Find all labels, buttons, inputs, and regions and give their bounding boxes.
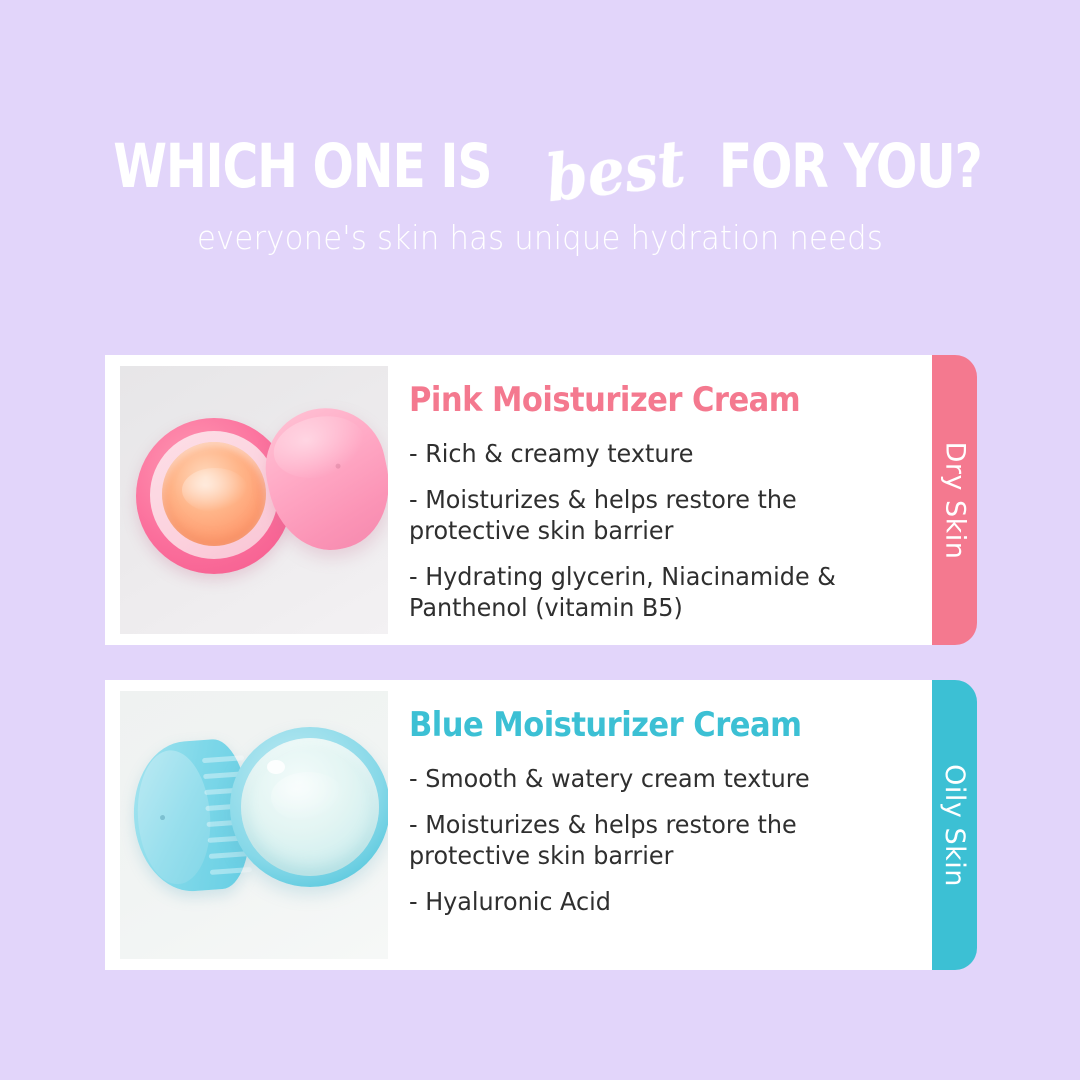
product-card-pink[interactable]: Pink Moisturizer Cream - Rich & creamy t… (105, 355, 932, 645)
product-details-blue: Blue Moisturizer Cream - Smooth & watery… (388, 680, 932, 917)
product-card-blue[interactable]: Blue Moisturizer Cream - Smooth & watery… (105, 680, 932, 970)
product-feature: - Moisturizes & helps restore the protec… (409, 484, 887, 547)
product-image-pink (120, 366, 388, 634)
product-feature: - Moisturizes & helps restore the protec… (409, 809, 887, 872)
pink-lid-mark-icon (335, 463, 341, 469)
headline-part-one: WHICH ONE IS (113, 136, 491, 197)
skin-type-tab-label: Oily Skin (939, 764, 970, 887)
pink-jar-base-icon (136, 418, 292, 574)
pink-cream-icon (162, 442, 266, 546)
pink-cream-highlight-icon (182, 468, 248, 512)
blue-gel-icon (241, 738, 379, 876)
headline-script-word: best (543, 132, 689, 212)
product-image-blue (120, 691, 388, 959)
skin-type-tab-oily[interactable]: Oily Skin (932, 680, 977, 970)
skin-type-tab-dry[interactable]: Dry Skin (932, 355, 977, 645)
product-title-pink: Pink Moisturizer Cream (409, 380, 880, 420)
product-details-pink: Pink Moisturizer Cream - Rich & creamy t… (388, 355, 932, 624)
page-title: WHICH ONE IS best FOR YOU? (0, 134, 1080, 198)
product-title-blue: Blue Moisturizer Cream (409, 705, 880, 745)
product-feature: - Hydrating glycerin, Niacinamide & Pant… (409, 561, 887, 624)
headline-part-two: FOR YOU? (718, 136, 981, 197)
skin-type-tab-label: Dry Skin (939, 441, 970, 559)
product-feature: - Smooth & watery cream texture (409, 763, 887, 795)
page-subtitle: everyone's skin has unique hydration nee… (38, 218, 1042, 257)
blue-gel-highlight-icon (271, 772, 345, 822)
header: WHICH ONE IS best FOR YOU? everyone's sk… (0, 0, 1080, 257)
blue-jar-base-icon (230, 727, 388, 887)
product-feature: - Hyaluronic Acid (409, 886, 887, 918)
pink-jar-rim-icon (150, 431, 278, 559)
blue-gel-bubble-icon (267, 760, 285, 774)
product-feature: - Rich & creamy texture (409, 438, 887, 470)
